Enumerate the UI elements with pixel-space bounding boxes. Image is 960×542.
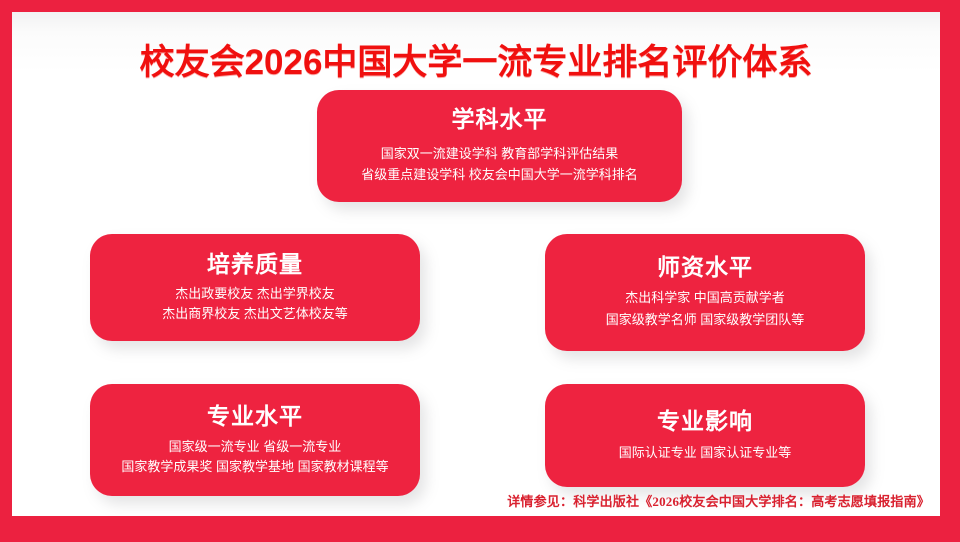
- card-detail-lines: 国家双一流建设学科 教育部学科评估结果 省级重点建设学科 校友会中国大学一流学科…: [361, 143, 638, 186]
- card-detail-lines: 杰出政要校友 杰出学界校友 杰出商界校友 杰出文艺体校友等: [162, 284, 348, 324]
- card-detail-line: 省级重点建设学科 校友会中国大学一流学科排名: [361, 164, 638, 185]
- card-detail-lines: 杰出科学家 中国高贡献学者 国家级教学名师 国家级教学团队等: [606, 287, 805, 331]
- card-detail-line: 国家双一流建设学科 教育部学科评估结果: [361, 143, 638, 164]
- criteria-card-major-influence: 专业影响 国际认证专业 国家认证专业等: [545, 384, 865, 487]
- poster-canvas: 校友会2026中国大学一流专业排名评价体系 学科水平 国家双一流建设学科 教育部…: [12, 12, 940, 516]
- criteria-card-discipline-level: 学科水平 国家双一流建设学科 教育部学科评估结果 省级重点建设学科 校友会中国大…: [317, 90, 682, 202]
- poster-frame: 校友会2026中国大学一流专业排名评价体系 学科水平 国家双一流建设学科 教育部…: [0, 0, 960, 542]
- card-detail-line: 国家教学成果奖 国家教学基地 国家教材课程等: [121, 457, 388, 477]
- card-detail-line: 杰出政要校友 杰出学界校友: [162, 284, 348, 304]
- criteria-card-major-level: 专业水平 国家级一流专业 省级一流专业 国家教学成果奖 国家教学基地 国家教材课…: [90, 384, 420, 496]
- card-title: 培养质量: [207, 251, 303, 277]
- card-title: 学科水平: [452, 106, 548, 132]
- card-title: 专业影响: [657, 408, 753, 434]
- card-title: 专业水平: [207, 403, 303, 429]
- card-detail-lines: 国家级一流专业 省级一流专业 国家教学成果奖 国家教学基地 国家教材课程等: [121, 437, 388, 477]
- card-detail-line: 国际认证专业 国家认证专业等: [619, 443, 792, 463]
- card-detail-line: 国家级教学名师 国家级教学团队等: [606, 309, 805, 331]
- page-title: 校友会2026中国大学一流专业排名评价体系: [12, 34, 940, 85]
- source-note: 详情参见：科学出版社《2026校友会中国大学排名：高考志愿填报指南》: [507, 491, 930, 510]
- card-detail-lines: 国际认证专业 国家认证专业等: [619, 443, 792, 463]
- card-detail-line: 杰出商界校友 杰出文艺体校友等: [162, 304, 348, 324]
- card-title: 师资水平: [657, 254, 753, 280]
- criteria-card-faculty-level: 师资水平 杰出科学家 中国高贡献学者 国家级教学名师 国家级教学团队等: [545, 234, 865, 351]
- card-detail-line: 杰出科学家 中国高贡献学者: [606, 287, 805, 309]
- card-detail-line: 国家级一流专业 省级一流专业: [121, 437, 388, 457]
- criteria-card-training-quality: 培养质量 杰出政要校友 杰出学界校友 杰出商界校友 杰出文艺体校友等: [90, 234, 420, 341]
